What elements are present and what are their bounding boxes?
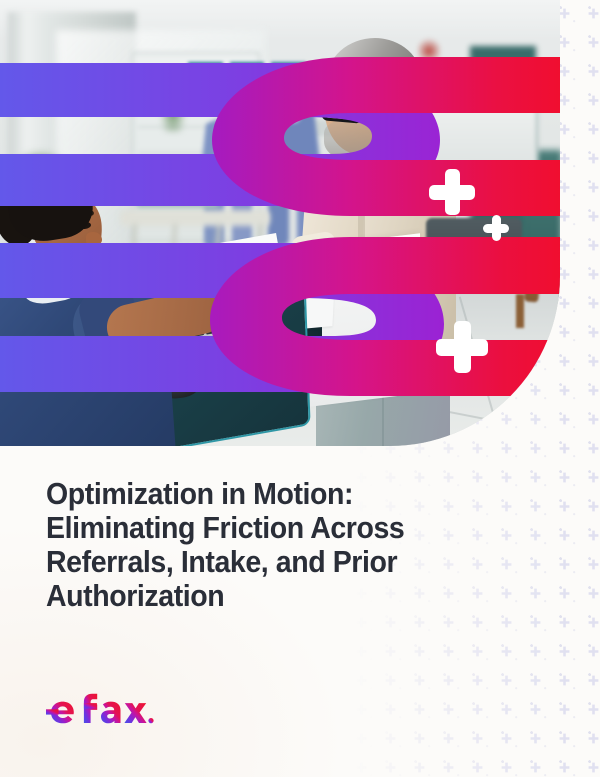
person-staff	[0, 168, 286, 446]
cover-page: Optimization in Motion: Eliminating Fric…	[0, 0, 600, 777]
hero-image	[0, 0, 560, 446]
efax-logo[interactable]	[46, 690, 156, 732]
efax-logo-mark	[46, 690, 156, 732]
page-title: Optimization in Motion: Eliminating Fric…	[46, 477, 485, 613]
hero-photograph	[0, 0, 560, 446]
waiting-armchair	[408, 218, 540, 328]
